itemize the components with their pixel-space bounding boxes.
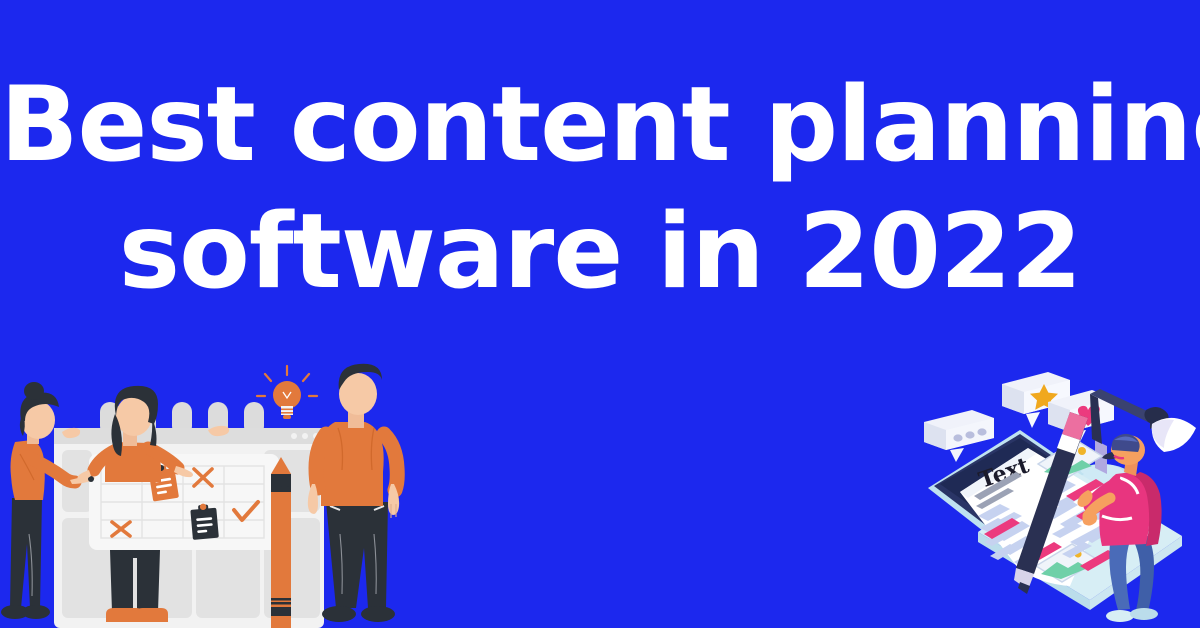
- pencil-illustration: [271, 457, 291, 628]
- banner-root: Best content planning software in 2022: [0, 0, 1200, 628]
- banner-title: Best content planning software in 2022: [0, 62, 1200, 316]
- lightbulb-icon: [257, 366, 317, 419]
- title-line-2: software in 2022: [0, 189, 1200, 316]
- laptop-document-editing-illustration: Text: [920, 366, 1200, 628]
- title-line-1: Best content planning: [0, 62, 1200, 189]
- team-content-calendar-illustration: [0, 358, 416, 628]
